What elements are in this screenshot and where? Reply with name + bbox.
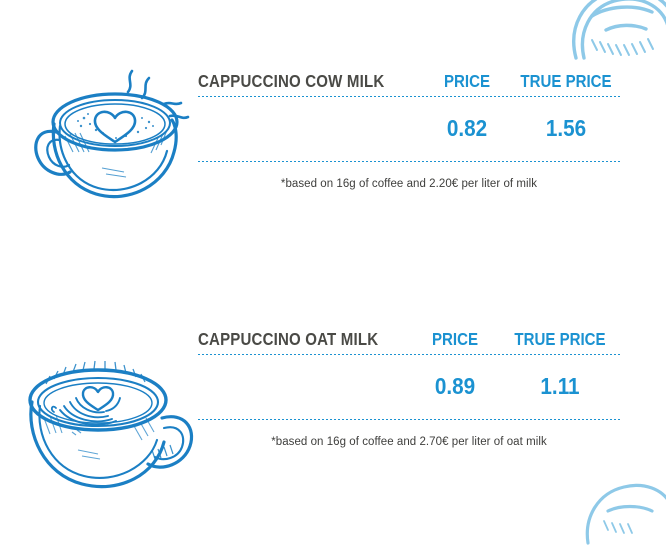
column-header-price: PRICE — [416, 331, 493, 349]
price-value-cell: 0.82 — [422, 117, 512, 140]
column-header-price: PRICE — [428, 73, 505, 91]
price-value-cow-milk: 0.82 — [427, 117, 508, 140]
column-header-true-price: TRUE PRICE — [520, 73, 613, 91]
true-price-value-cell: 1.56 — [512, 117, 620, 140]
true-price-value-cow-milk: 1.56 — [517, 117, 614, 140]
price-table-oat-milk: CAPPUCCINO OAT MILK PRICE TRUE PRICE 0.8… — [198, 318, 620, 450]
footer-divider-dotted — [198, 161, 620, 162]
footer-divider-dotted — [198, 419, 620, 420]
price-value-cell: 0.89 — [410, 375, 500, 398]
table-header-row: CAPPUCCINO OAT MILK PRICE TRUE PRICE — [198, 318, 620, 348]
table-value-row: 0.82 1.56 — [198, 97, 620, 159]
price-comparison-page: CAPPUCCINO COW MILK PRICE TRUE PRICE 0.8… — [0, 0, 666, 525]
footnote-cow-milk: *based on 16g of coffee and 2.20€ per li… — [198, 178, 620, 192]
true-price-value-cell: 1.11 — [500, 375, 620, 398]
product-name-cow-milk: CAPPUCCINO COW MILK — [198, 73, 391, 91]
price-value-oat-milk: 0.89 — [415, 375, 496, 398]
true-price-value-oat-milk: 1.11 — [506, 375, 614, 398]
corner-coffee-cup-decoration-bottom-right — [582, 465, 666, 555]
footnote-oat-milk: *based on 16g of coffee and 2.70€ per li… — [198, 436, 620, 450]
column-header-true-price: TRUE PRICE — [508, 331, 611, 349]
table-header-row: CAPPUCCINO COW MILK PRICE TRUE PRICE — [198, 60, 620, 90]
cappuccino-cup-heart-latte-art-icon — [18, 60, 203, 205]
product-name-oat-milk: CAPPUCCINO OAT MILK — [198, 331, 380, 349]
price-table-cow-milk: CAPPUCCINO COW MILK PRICE TRUE PRICE 0.8… — [198, 60, 620, 192]
cappuccino-cup-rosetta-latte-art-icon — [16, 346, 206, 498]
table-value-row: 0.89 1.11 — [198, 355, 620, 417]
